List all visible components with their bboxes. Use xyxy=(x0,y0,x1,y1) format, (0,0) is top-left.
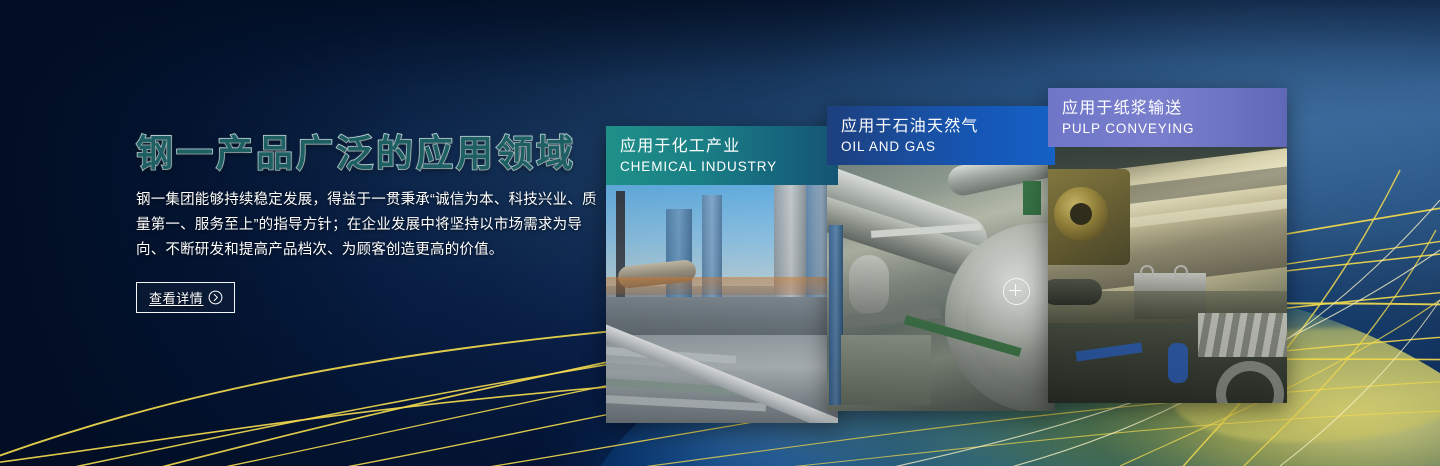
card-header-oil-gas: 应用于石油天然气 OIL AND GAS xyxy=(827,106,1055,165)
pulp-conveying-machine-photo xyxy=(1048,147,1287,403)
card-title-cn: 应用于纸浆输送 xyxy=(1062,98,1287,120)
banner-copy: 钢一产品广泛的应用领域 钢一集团能够持续稳定发展，得益于一贯秉承“诚信为本、科技… xyxy=(136,133,606,313)
card-header-chemical: 应用于化工产业 CHEMICAL INDUSTRY xyxy=(606,126,838,185)
card-chemical-industry[interactable]: 应用于化工产业 CHEMICAL INDUSTRY xyxy=(606,126,838,423)
card-title-en: CHEMICAL INDUSTRY xyxy=(620,158,838,176)
zoom-in-icon[interactable] xyxy=(1003,278,1030,305)
page-title: 钢一产品广泛的应用领域 xyxy=(136,133,606,174)
card-title-cn: 应用于化工产业 xyxy=(620,136,838,158)
chevron-right-circle-icon xyxy=(208,290,223,305)
card-oil-and-gas[interactable]: 应用于石油天然气 OIL AND GAS xyxy=(827,106,1055,411)
application-fields-banner: 钢一产品广泛的应用领域 钢一集团能够持续稳定发展，得益于一贯秉承“诚信为本、科技… xyxy=(0,0,1440,466)
card-title-en: PULP CONVEYING xyxy=(1062,120,1287,138)
card-title-en: OIL AND GAS xyxy=(841,138,1055,156)
view-details-button[interactable]: 查看详情 xyxy=(136,282,235,313)
banner-description: 钢一集团能够持续稳定发展，得益于一贯秉承“诚信为本、科技兴业、质量第一、服务至上… xyxy=(136,188,606,263)
card-pulp-conveying[interactable]: 应用于纸浆输送 PULP CONVEYING xyxy=(1048,88,1287,403)
oil-gas-refinery-photo xyxy=(827,165,1055,411)
chemical-plant-photo xyxy=(606,185,838,423)
card-title-cn: 应用于石油天然气 xyxy=(841,116,1055,138)
card-header-pulp: 应用于纸浆输送 PULP CONVEYING xyxy=(1048,88,1287,147)
view-details-label: 查看详情 xyxy=(149,288,203,307)
